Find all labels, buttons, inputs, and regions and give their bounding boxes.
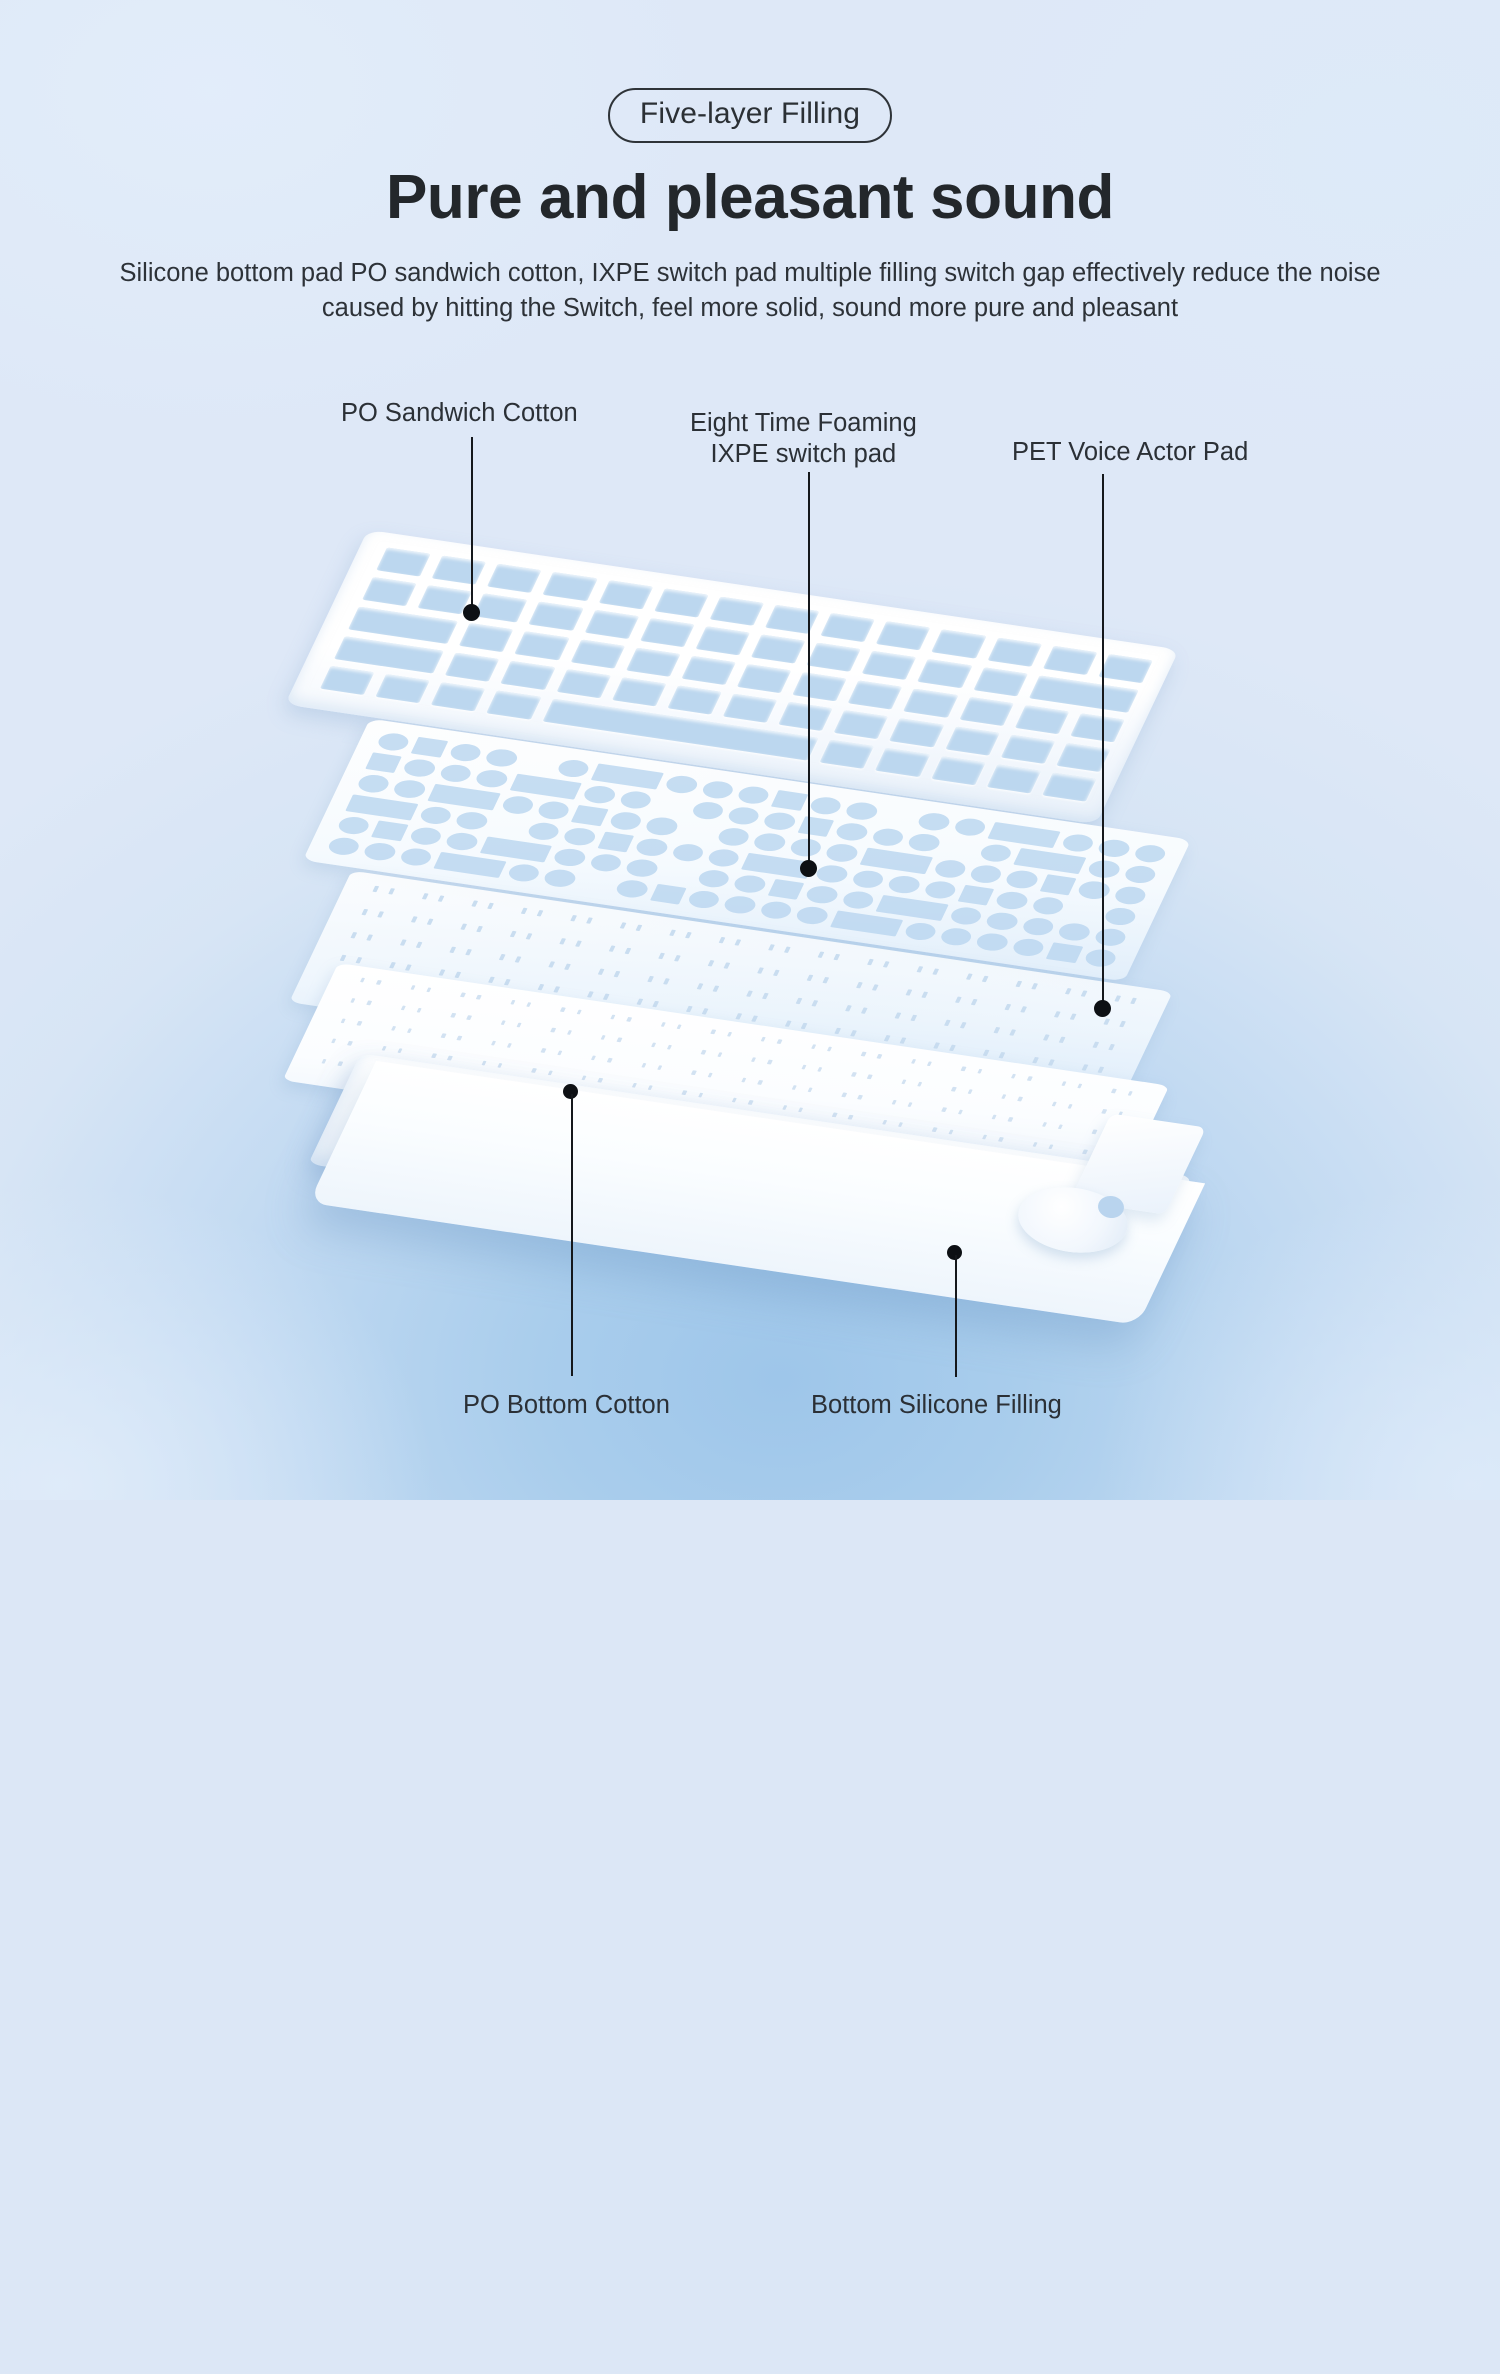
- callout-leader-line-po-bottom-cotton: [571, 1094, 573, 1376]
- callout-label-pet-voice-actor-pad: PET Voice Actor Pad: [1012, 437, 1248, 468]
- callout-leader-line-pet-voice-actor-pad: [1102, 474, 1104, 1008]
- callout-leader-line-po-sandwich-cotton: [471, 437, 473, 613]
- callout-label-ixpe-switch-pad: Eight Time Foaming IXPE switch pad: [690, 408, 917, 470]
- callout-leader-line-ixpe-switch-pad: [808, 472, 810, 868]
- callout-label-bottom-silicone-filling: Bottom Silicone Filling: [811, 1390, 1062, 1421]
- callout-label-po-bottom-cotton: PO Bottom Cotton: [463, 1390, 670, 1421]
- callout-label-po-sandwich-cotton: PO Sandwich Cotton: [341, 398, 578, 429]
- callout-dot-ixpe-switch-pad: [800, 860, 817, 877]
- callout-leader-line-bottom-silicone-filling: [955, 1255, 957, 1377]
- callout-dot-po-sandwich-cotton: [463, 604, 480, 621]
- callout-annotations: PO Sandwich Cotton Eight Time Foaming IX…: [0, 0, 1500, 1500]
- callout-dot-pet-voice-actor-pad: [1094, 1000, 1111, 1017]
- callout-label-line-2: IXPE switch pad: [690, 439, 917, 470]
- callout-label-line-1: Eight Time Foaming: [690, 408, 917, 439]
